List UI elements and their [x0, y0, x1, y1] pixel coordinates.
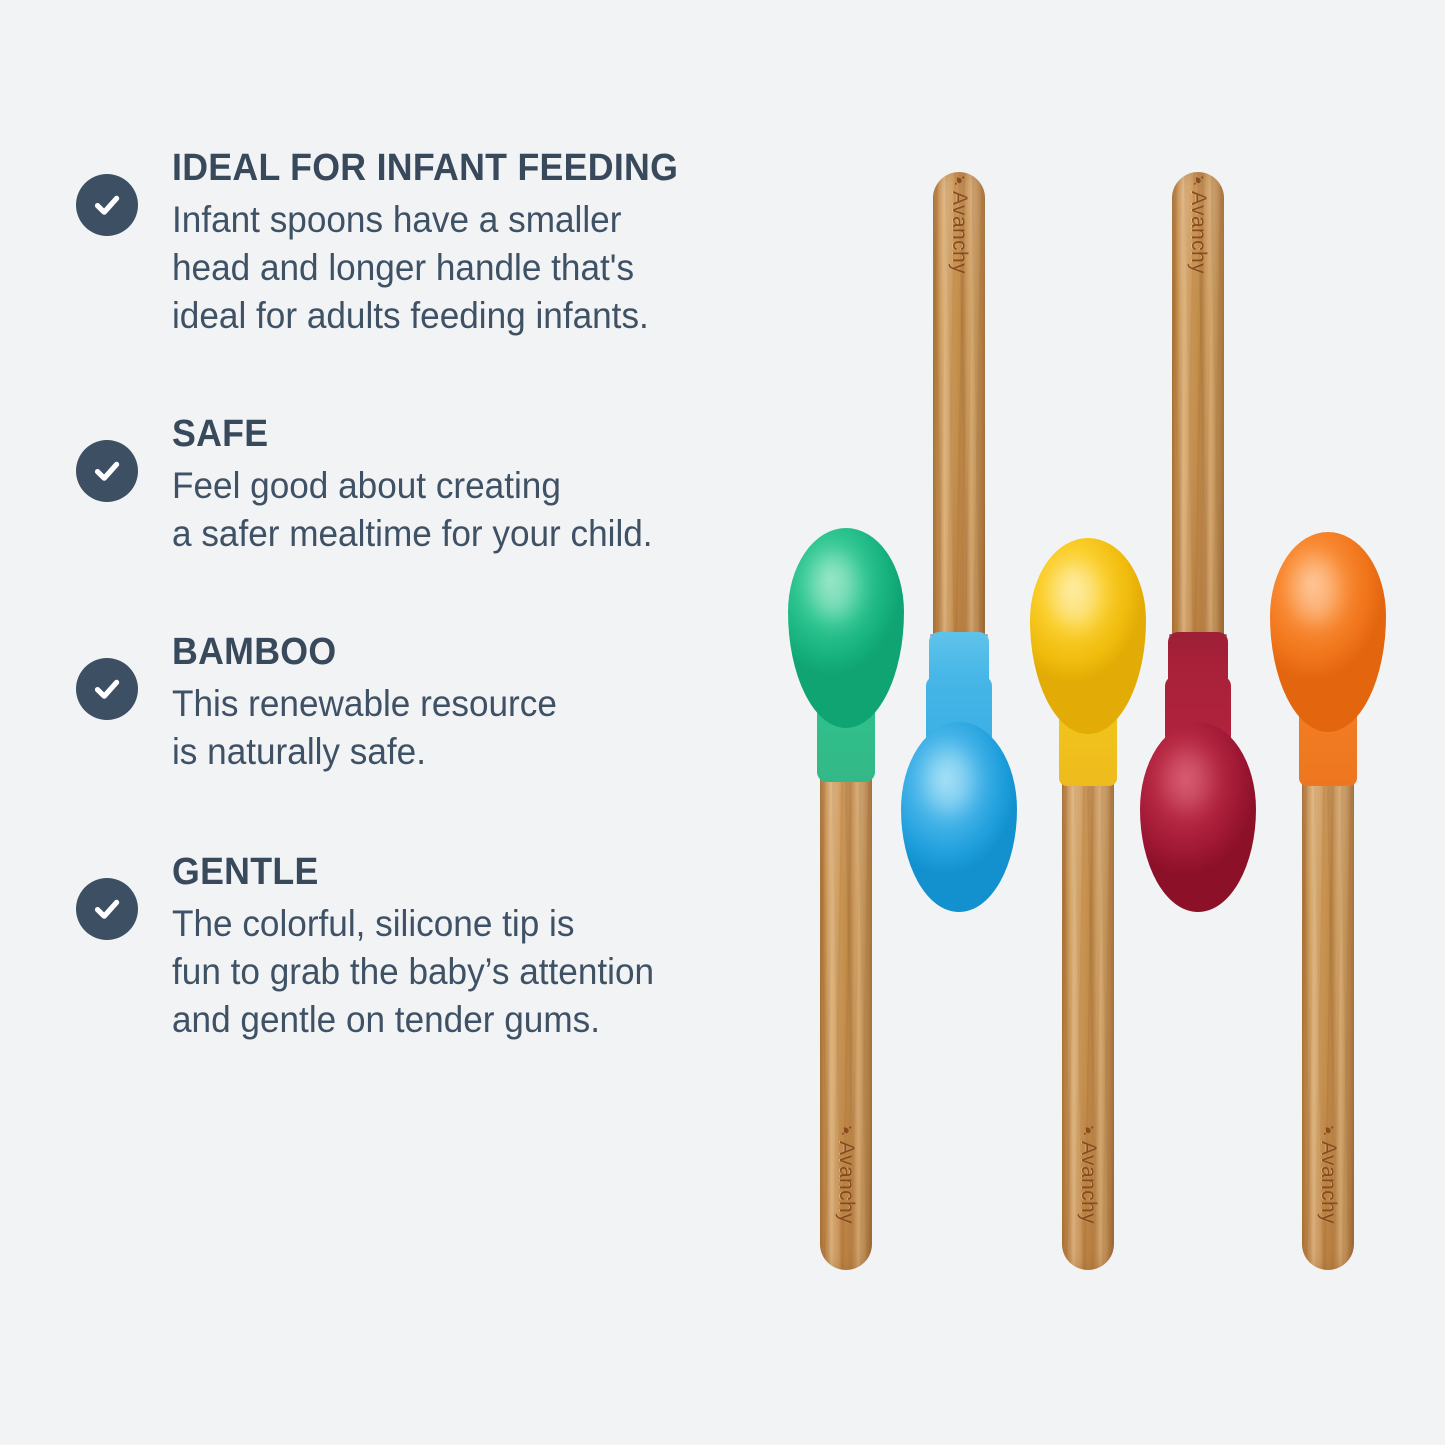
feature-title: IDEAL FOR INFANT FEEDING [172, 148, 759, 190]
feature-body-line: fun to grab the baby’s attention [172, 948, 765, 996]
feature-body: This renewable resource is naturally saf… [172, 680, 765, 776]
yellow-spoon-handle [1062, 770, 1114, 1270]
feature-body: Feel good about creating a safer mealtim… [172, 462, 765, 558]
feature-title: GENTLE [172, 852, 759, 894]
feature-body-line: Feel good about creating [172, 462, 765, 510]
feature-title: SAFE [172, 414, 759, 456]
feature-body-line: is naturally safe. [172, 728, 765, 776]
red-spoon-handle [1172, 172, 1224, 642]
blue-spoon-head [901, 632, 1017, 912]
feature-body-line: head and longer handle that's [172, 244, 765, 292]
blue-spoon-handle [933, 172, 985, 642]
check-circle-icon [76, 658, 138, 720]
feature-item-gentle: GENTLE The colorful, silicone tip is fun… [76, 852, 796, 1044]
feature-body: Infant spoons have a smaller head and lo… [172, 196, 765, 340]
feature-body-line: and gentle on tender gums. [172, 996, 765, 1044]
feature-body-line: Infant spoons have a smaller [172, 196, 765, 244]
feature-body-line: This renewable resource [172, 680, 765, 728]
feature-list: IDEAL FOR INFANT FEEDING Infant spoons h… [76, 148, 796, 1044]
feature-body-line: ideal for adults feeding infants. [172, 292, 765, 340]
check-circle-icon [76, 174, 138, 236]
red-spoon-head-bulb [1140, 722, 1256, 912]
check-circle-icon [76, 878, 138, 940]
feature-title: BAMBOO [172, 632, 759, 674]
green-spoon-handle [820, 770, 872, 1270]
feature-body: The colorful, silicone tip is fun to gra… [172, 900, 765, 1044]
product-photo-spoon-set: Avanchy Avanchy [780, 150, 1445, 1310]
feature-item-bamboo: BAMBOO This renewable resource is natura… [76, 632, 796, 776]
feature-item-safe: SAFE Feel good about creating a safer me… [76, 414, 796, 558]
feature-item-ideal-for-infant-feeding: IDEAL FOR INFANT FEEDING Infant spoons h… [76, 148, 796, 340]
orange-spoon-head [1270, 532, 1386, 782]
red-spoon-head [1140, 632, 1256, 912]
check-circle-icon [76, 440, 138, 502]
orange-spoon-head-bulb [1270, 532, 1386, 732]
green-spoon-head-bulb [788, 528, 904, 728]
product-infographic: IDEAL FOR INFANT FEEDING Infant spoons h… [0, 0, 1445, 1445]
yellow-spoon-head [1030, 538, 1146, 782]
orange-spoon-handle [1302, 770, 1354, 1270]
feature-body-line: a safer mealtime for your child. [172, 510, 765, 558]
feature-body-line: The colorful, silicone tip is [172, 900, 765, 948]
yellow-spoon-head-bulb [1030, 538, 1146, 734]
blue-spoon-head-bulb [901, 722, 1017, 912]
green-spoon-head [788, 528, 904, 778]
